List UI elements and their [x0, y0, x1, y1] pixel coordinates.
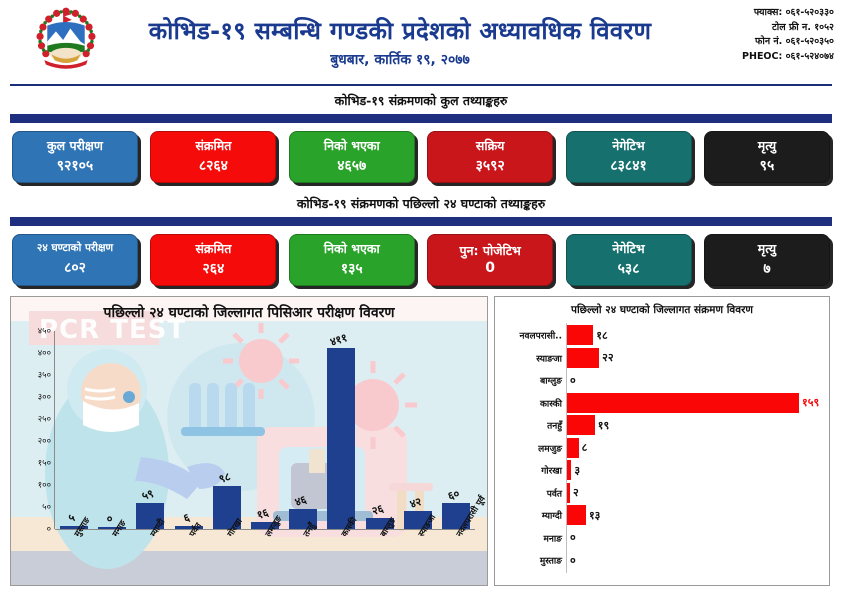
daily-stat-card-value: ५३८ [618, 259, 640, 278]
infection-bar-value: १८ [596, 328, 607, 343]
infection-row: नवलपरासी..१८ [567, 325, 608, 345]
infection-row: पर्वत२ [567, 483, 579, 503]
total-stat-card-value: ८३८४१ [610, 156, 646, 175]
infection-bar-value: २ [573, 485, 579, 500]
section-24h-title: कोभिड-१९ संक्रमणको पछिल्लो २४ घण्टाको तथ… [0, 191, 842, 217]
total-stat-card-value: ९२१०५ [57, 156, 93, 175]
pcr-test-chart: PCR TEST पछिल्लो २४ घण्टाको जिल्लागत पिस… [10, 296, 488, 586]
pcr-bar-value: ५९ [140, 486, 156, 504]
daily-stat-card-1[interactable]: संक्रमित२६४ [150, 234, 276, 286]
infection-chart-title: पछिल्लो २४ घण्टाको जिल्लागत संक्रमण विवर… [495, 303, 829, 317]
section-total-title: कोभिड-१९ संक्रमणको कुल तथ्याङ्कहरु [0, 88, 842, 114]
total-stat-card-value: ९५ [760, 156, 775, 175]
total-stat-card-4[interactable]: नेगेटिभ८३८४१ [566, 131, 692, 183]
pcr-bar-value: ४६ [293, 492, 309, 510]
total-stat-card-value: ३५९२ [476, 156, 505, 175]
title-block: कोभिड-१९ सम्बन्धि गण्डकी प्रदेशको अध्याव… [110, 18, 690, 69]
infection-category-label: स्याङजा [536, 351, 562, 364]
infection-bar-value: ० [570, 373, 576, 388]
infection-category-label: पर्वत [547, 486, 562, 499]
infection-row: बाग्लुङ० [567, 370, 576, 390]
total-stat-card-label: सक्रिय [476, 139, 505, 153]
infection-bar-value: १५९ [802, 395, 819, 410]
infection-bar[interactable] [567, 393, 799, 413]
infection-row: कास्की१५९ [567, 393, 819, 413]
contact-pheoc: PHEOC: ०६१-५२४०७४ [742, 50, 834, 65]
charts-row: PCR TEST पछिल्लो २४ घण्टाको जिल्लागत पिस… [0, 292, 842, 592]
pcr-y-tick: ४०० [38, 348, 51, 359]
daily-stat-card-label: मृत्यु [758, 242, 776, 256]
infection-bar[interactable] [567, 505, 586, 525]
daily-stat-card-label: नेगेटिभ [612, 242, 644, 256]
pcr-bar-value: ४२ [408, 493, 424, 511]
daily-stat-card-value: 0 [485, 260, 495, 276]
daily-stat-card-3[interactable]: पुन: पोजेटिभ0 [427, 234, 553, 286]
daily-stat-card-label: २४ घण्टाको परीक्षण [37, 243, 113, 255]
contact-info: फ्याक्स: ०६१-५२०३३० टोल फ्री न. १०५२ फोन… [742, 6, 834, 65]
section-total: कोभिड-१९ संक्रमणको कुल तथ्याङ्कहरु कुल प… [0, 88, 842, 189]
daily-stat-card-4[interactable]: नेगेटिभ५३८ [566, 234, 692, 286]
pcr-y-tick: २५० [38, 414, 51, 425]
section-total-band [10, 114, 832, 123]
infection-row: तनहुँ१९ [567, 415, 609, 435]
infection-bar[interactable] [567, 415, 595, 435]
infection-bar[interactable] [567, 325, 593, 345]
total-stat-card-3[interactable]: सक्रिय३५९२ [427, 131, 553, 183]
contact-tollfree: टोल फ्री न. १०५२ [742, 21, 834, 36]
pcr-y-tick: ३०० [38, 392, 51, 403]
total-stat-card-value: ८२६४ [199, 156, 228, 175]
infection-bar[interactable] [567, 348, 599, 368]
contact-phone: फोन नं. ०६१-५२०३५० [742, 35, 834, 50]
infection-category-label: कास्की [540, 396, 562, 409]
pcr-bar-value: ४११ [329, 330, 350, 350]
pcr-y-tick: ४५० [38, 326, 51, 337]
pcr-plot-area: ०५०१००१५०२००२५०३००३५०४००४५०५०५९६९८१६४६४१… [55, 331, 475, 529]
pcr-y-tick: १०० [38, 480, 51, 491]
pcr-bar-value: ९८ [217, 469, 233, 487]
daily-stat-card-value: ८०२ [64, 258, 86, 277]
pcr-bar-value: ० [105, 511, 115, 527]
infection-bar-value: ८ [582, 440, 588, 455]
infection-chart: पछिल्लो २४ घण्टाको जिल्लागत संक्रमण विवर… [494, 296, 830, 586]
page-header: कोभिड-१९ सम्बन्धि गण्डकी प्रदेशको अध्याव… [0, 0, 842, 80]
pcr-y-tick: ३५० [38, 370, 51, 381]
daily-stat-card-value: ७ [763, 259, 770, 278]
infection-bar-value: ३ [574, 463, 580, 478]
infection-bar-value: ० [570, 530, 576, 545]
infection-bar-value: १३ [589, 508, 600, 523]
infection-category-label: मनाङ [544, 531, 562, 544]
total-stat-card-5[interactable]: मृत्यु९५ [704, 131, 830, 183]
infection-row: मनाङ० [567, 528, 576, 548]
pcr-y-tick: १५० [38, 458, 51, 469]
pcr-bar-value: ६ [181, 510, 191, 526]
total-stat-cards: कुल परीक्षण९२१०५संक्रमित८२६४निको भएका४६५… [0, 123, 842, 189]
pcr-y-tick: ५० [42, 502, 51, 513]
pcr-y-tick: २०० [38, 436, 51, 447]
infection-category-label: तनहुँ [547, 419, 562, 432]
infection-row: गोरखा३ [567, 460, 580, 480]
total-stat-card-0[interactable]: कुल परीक्षण९२१०५ [12, 131, 138, 183]
contact-fax: फ्याक्स: ०६१-५२०३३० [742, 6, 834, 21]
infection-bar-value: १९ [598, 418, 609, 433]
page-date: बुधबार, कार्तिक १९, २०७७ [110, 50, 690, 69]
daily-stat-card-5[interactable]: मृत्यु७ [704, 234, 830, 286]
dashboard-page: कोभिड-१९ सम्बन्धि गण्डकी प्रदेशको अध्याव… [0, 0, 842, 595]
daily-stat-cards: २४ घण्टाको परीक्षण८०२संक्रमित२६४निको भएक… [0, 226, 842, 292]
total-stat-card-label: कुल परीक्षण [47, 139, 103, 153]
infection-row: मुस्ताङ० [567, 550, 576, 570]
total-stat-card-1[interactable]: संक्रमित८२६४ [150, 131, 276, 183]
infection-bar[interactable] [567, 460, 571, 480]
infection-row: स्याङजा२२ [567, 348, 614, 368]
daily-stat-card-0[interactable]: २४ घण्टाको परीक्षण८०२ [12, 234, 138, 286]
total-stat-card-label: मृत्यु [758, 139, 776, 153]
total-stat-card-value: ४६५७ [337, 156, 366, 175]
section-24h: कोभिड-१९ संक्रमणको पछिल्लो २४ घण्टाको तथ… [0, 191, 842, 292]
infection-row: लमजुङ८ [567, 438, 587, 458]
infection-bar-value: ० [570, 553, 576, 568]
total-stat-card-label: निको भएका [324, 139, 380, 153]
infection-bar[interactable] [567, 438, 579, 458]
pcr-bar-value: ५ [67, 510, 77, 526]
daily-stat-card-value: २६४ [202, 259, 224, 278]
infection-category-label: बाग्लुङ [540, 374, 562, 387]
total-stat-card-label: नेगेटिभ [612, 139, 644, 153]
infection-plot-area: नवलपरासी..१८स्याङजा२२बाग्लुङ०कास्की१५९तन… [567, 323, 805, 573]
gandaki-province-emblem-icon [30, 4, 102, 76]
page-title: कोभिड-१९ सम्बन्धि गण्डकी प्रदेशको अध्याव… [110, 18, 690, 46]
daily-stat-card-label: पुन: पोजेटिभ [460, 244, 521, 258]
header-divider [10, 84, 832, 86]
infection-bar[interactable] [567, 483, 570, 503]
pcr-y-tick: ० [47, 524, 51, 535]
infection-category-label: लमजुङ [538, 441, 562, 454]
section-24h-band [10, 217, 832, 226]
infection-bar-value: २२ [602, 350, 613, 365]
daily-stat-card-label: निको भएका [324, 242, 380, 256]
daily-stat-card-2[interactable]: निको भएका१३५ [289, 234, 415, 286]
pcr-chart-title: पछिल्लो २४ घण्टाको जिल्लागत पिसिआर परीक्… [11, 303, 487, 322]
pcr-bar-value: १६ [255, 505, 271, 523]
infection-category-label: गोरखा [541, 464, 562, 477]
pcr-bar[interactable]: ४११ [327, 348, 355, 529]
daily-stat-card-value: १३५ [341, 259, 363, 278]
daily-stat-card-label: संक्रमित [195, 242, 231, 256]
infection-category-label: नवलपरासी.. [520, 329, 562, 342]
infection-row: म्याग्दी१३ [567, 505, 600, 525]
total-stat-card-2[interactable]: निको भएका४६५७ [289, 131, 415, 183]
pcr-bar-value: २६ [369, 501, 385, 519]
pcr-bar-value: ६० [446, 486, 462, 504]
infection-category-label: म्याग्दी [542, 509, 562, 522]
total-stat-card-label: संक्रमित [195, 139, 231, 153]
infection-category-label: मुस्ताङ [540, 554, 562, 567]
